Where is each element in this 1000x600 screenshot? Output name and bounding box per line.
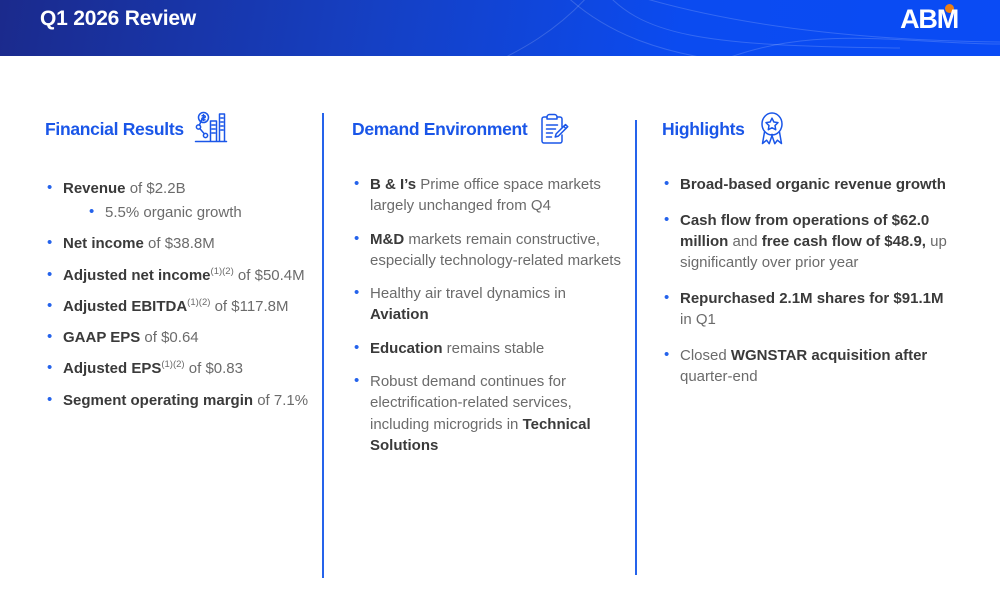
list-item: Adjusted EPS(1)(2) of $0.83 <box>45 358 313 379</box>
sub-bullet-list: 5.5% organic growth <box>63 202 313 223</box>
emphasis-text: Aviation <box>370 306 429 323</box>
list-item: Robust demand continues for electrificat… <box>352 371 622 456</box>
emphasis-text: M&D <box>370 231 404 248</box>
logo-wordmark: ABM <box>900 6 958 33</box>
emphasis-text: WGNSTAR acquisition after <box>731 347 927 364</box>
list-item: Closed WGNSTAR acquisition after quarter… <box>662 345 952 387</box>
column-header: Financial Results <box>45 106 313 152</box>
column-divider-1 <box>322 113 324 578</box>
body-text: and <box>728 233 761 250</box>
bullet-list-demand-environment: B & I’s Prime office space markets large… <box>352 174 622 456</box>
column-title: Financial Results <box>45 119 184 140</box>
body-text: Closed <box>680 347 731 364</box>
column-demand-environment: Demand Environment B & I’s Prime office … <box>352 56 622 468</box>
body-text: in Q1 <box>680 311 716 328</box>
body-text: remains stable <box>443 340 545 357</box>
body-text: of 7.1% <box>253 392 308 409</box>
emphasis-text: Education <box>370 340 443 357</box>
body-text: of $2.2B <box>126 180 186 197</box>
body-text: of $0.83 <box>185 360 243 377</box>
sub-list-item: 5.5% organic growth <box>89 202 313 223</box>
list-item: Education remains stable <box>352 338 622 359</box>
abm-logo: ABM <box>872 4 958 38</box>
award-ribbon-star-icon <box>755 110 789 148</box>
column-header: Highlights <box>662 106 952 152</box>
emphasis-text: B & I’s <box>370 176 416 193</box>
footnote-ref: (1)(2) <box>211 266 234 277</box>
column-title: Highlights <box>662 119 745 140</box>
emphasis-text: Adjusted EBITDA <box>63 298 187 315</box>
slide-header: Q1 2026 Review ABM <box>0 0 1000 56</box>
column-divider-2 <box>635 120 637 575</box>
list-item: M&D markets remain constructive, especia… <box>352 229 622 272</box>
list-item: GAAP EPS of $0.64 <box>45 327 313 348</box>
body-text: of $0.64 <box>140 329 198 346</box>
emphasis-text: Net income <box>63 235 144 252</box>
column-title: Demand Environment <box>352 119 527 140</box>
list-item: Broad-based organic revenue growth <box>662 174 952 195</box>
page-title: Q1 2026 Review <box>40 7 196 31</box>
body-text: of $50.4M <box>234 267 305 284</box>
list-item: Net income of $38.8M <box>45 233 313 254</box>
slide-body: Financial Results Revenue of $2.2B5.5% o… <box>0 56 1000 600</box>
list-item: B & I’s Prime office space markets large… <box>352 174 622 217</box>
list-item: Repurchased 2.1M shares for $91.1M in Q1 <box>662 288 952 330</box>
emphasis-text: GAAP EPS <box>63 329 140 346</box>
list-item: Healthy air travel dynamics in Aviation <box>352 283 622 326</box>
column-highlights: Highlights Broad-based organic revenue g… <box>662 56 952 402</box>
body-text: of $117.8M <box>210 298 288 315</box>
bullet-list-financial-results: Revenue of $2.2B5.5% organic growthNet i… <box>45 178 313 411</box>
body-text: markets remain constructive, especially … <box>370 231 621 269</box>
body-text: quarter-end <box>680 368 758 385</box>
body-text: 5.5% organic growth <box>105 204 242 221</box>
footnote-ref: (1)(2) <box>161 359 184 370</box>
clipboard-pencil-icon <box>537 111 569 147</box>
list-item: Revenue of $2.2B5.5% organic growth <box>45 178 313 223</box>
list-item: Cash flow from operations of $62.0 milli… <box>662 210 952 273</box>
buildings-dollar-network-icon <box>194 110 228 148</box>
emphasis-text: Revenue <box>63 180 126 197</box>
body-text: of $38.8M <box>144 235 215 252</box>
list-item: Segment operating margin of 7.1% <box>45 390 313 411</box>
emphasis-text: Adjusted EPS <box>63 360 161 377</box>
emphasis-text: Adjusted net income <box>63 267 211 284</box>
column-header: Demand Environment <box>352 106 622 152</box>
emphasis-text: Segment operating margin <box>63 392 253 409</box>
list-item: Adjusted net income(1)(2) of $50.4M <box>45 265 313 286</box>
emphasis-text: Repurchased 2.1M shares for $91.1M <box>680 290 943 307</box>
list-item: Adjusted EBITDA(1)(2) of $117.8M <box>45 296 313 317</box>
emphasis-text: Broad-based organic revenue growth <box>680 176 946 193</box>
footnote-ref: (1)(2) <box>187 297 210 308</box>
column-financial-results: Financial Results Revenue of $2.2B5.5% o… <box>45 56 313 421</box>
emphasis-text: free cash flow of $48.9, <box>762 233 926 250</box>
bullet-list-highlights: Broad-based organic revenue growthCash f… <box>662 174 952 387</box>
body-text: Healthy air travel dynamics in <box>370 285 566 302</box>
